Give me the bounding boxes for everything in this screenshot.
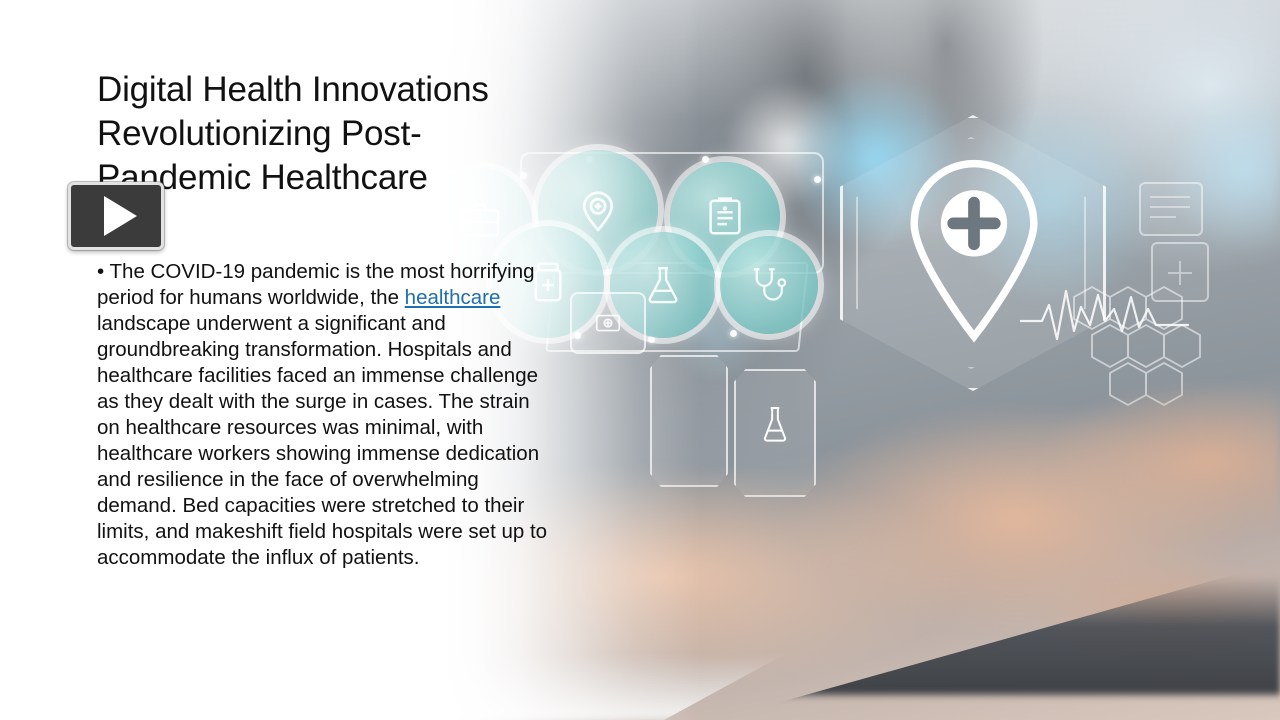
body-paragraph: • The COVID-19 pandemic is the most horr… <box>97 259 549 571</box>
play-icon <box>104 196 137 236</box>
slide-canvas: Digital Health Innovations Revolutionizi… <box>0 0 1280 720</box>
healthcare-link[interactable]: healthcare <box>405 286 501 309</box>
play-video-button[interactable] <box>68 182 164 250</box>
page-title: Digital Health Innovations Revolutionizi… <box>97 68 567 200</box>
body-text-after-link: landscape underwent a significant and gr… <box>97 312 547 569</box>
bullet-marker: • <box>97 260 104 283</box>
